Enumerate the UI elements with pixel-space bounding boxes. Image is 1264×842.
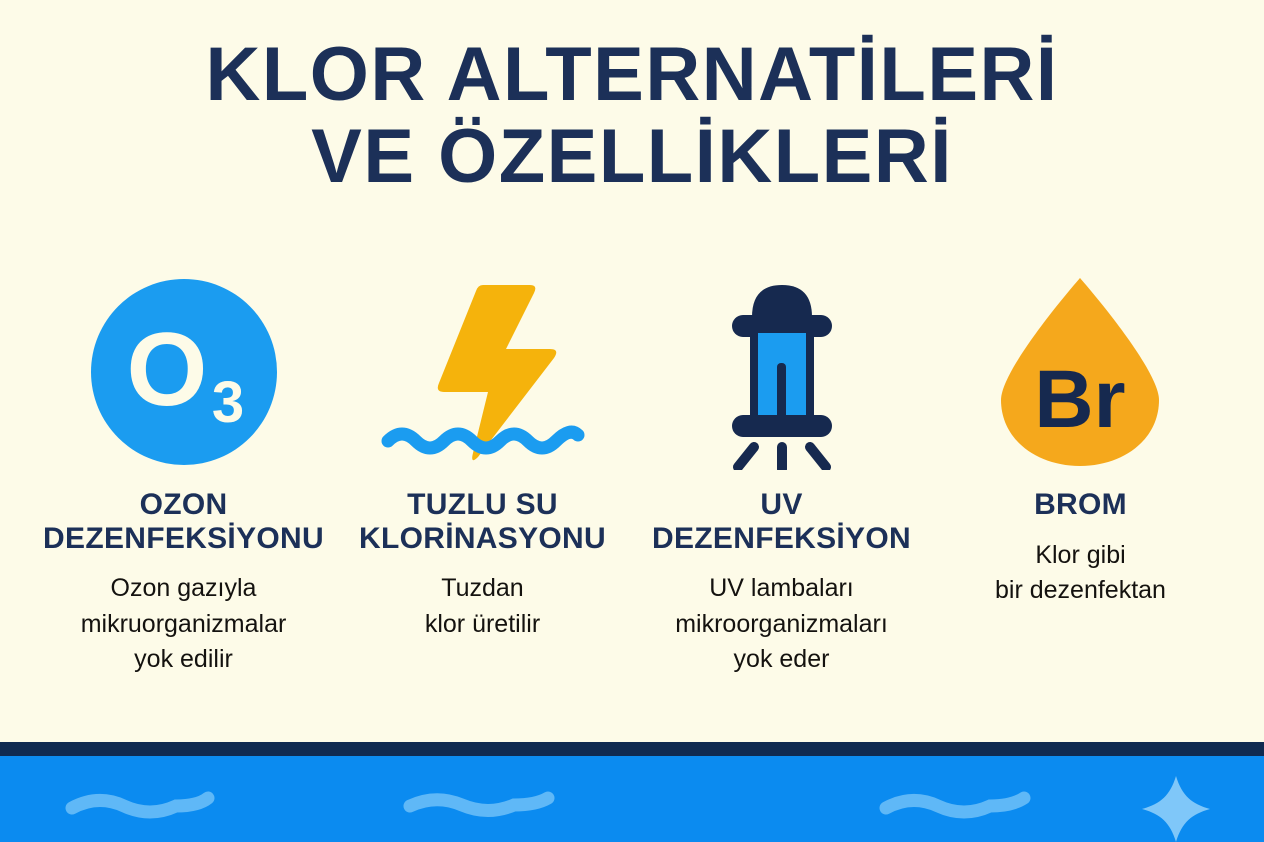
footer-wave-center	[410, 798, 548, 811]
method-body-salt-water: Tuzdan klor üretilir	[421, 571, 544, 642]
method-card-ozone: O 3 OZON DEZENFEKSİYONU Ozon gazıyla mik…	[34, 272, 333, 678]
salt-water-lightning-icon	[333, 272, 632, 472]
method-body-salt-water-line1: Tuzdan	[425, 571, 540, 607]
bromine-br-label: Br	[1034, 354, 1125, 445]
method-body-ozone-line2: mikruorganizmalar	[81, 607, 287, 643]
sparkle-icon	[1142, 776, 1210, 842]
method-heading-uv-line1: UV	[652, 488, 911, 522]
method-card-salt-water: TUZLU SU KLORİNASYONU Tuzdan klor üretil…	[333, 272, 632, 642]
method-body-ozone-line1: Ozon gazıyla	[81, 571, 287, 607]
methods-row: O 3 OZON DEZENFEKSİYONU Ozon gazıyla mik…	[34, 272, 1230, 678]
method-body-ozone-line3: yok edilir	[81, 642, 287, 678]
footer-navy-stripe	[0, 742, 1264, 756]
method-card-uv: UV DEZENFEKSİYON UV lambaları mikroorgan…	[632, 272, 931, 678]
footer-water-band	[0, 756, 1264, 842]
method-heading-ozone-line2: DEZENFEKSİYONU	[43, 522, 324, 556]
method-heading-salt-water-line2: KLORİNASYONU	[359, 522, 606, 556]
method-body-uv-line1: UV lambaları	[675, 571, 888, 607]
ozone-3-subscript: 3	[211, 370, 243, 435]
method-body-bromine-line2: bir dezenfektan	[995, 573, 1166, 609]
uv-ray-right	[810, 447, 826, 467]
method-body-uv: UV lambaları mikroorganizmaları yok eder	[671, 571, 892, 678]
method-body-uv-line2: mikroorganizmaları	[675, 607, 888, 643]
method-heading-salt-water-line1: TUZLU SU	[359, 488, 606, 522]
method-heading-ozone-line1: OZON	[43, 488, 324, 522]
method-heading-salt-water: TUZLU SU KLORİNASYONU	[357, 488, 608, 555]
method-body-bromine-line1: Klor gibi	[995, 538, 1166, 574]
method-heading-uv: UV DEZENFEKSİYON	[650, 488, 913, 555]
footer-wave-left	[72, 798, 208, 812]
uv-lamp-bottom-bar	[732, 415, 832, 437]
footer-wave-right	[886, 798, 1024, 812]
infographic-poster: KLOR ALTERNATİLERİ VE ÖZELLİKLERİ O 3 OZ…	[0, 0, 1264, 842]
method-body-uv-line3: yok eder	[675, 642, 888, 678]
title-line-1: KLOR ALTERNATİLERİ	[0, 38, 1264, 112]
ozone-o-letter: O	[126, 312, 207, 428]
method-heading-bromine-line1: BROM	[1034, 488, 1127, 522]
title-line-2: VE ÖZELLİKLERİ	[0, 120, 1264, 194]
uv-lamp-icon	[632, 272, 931, 472]
method-card-bromine: Br BROM Klor gibi bir dezenfektan	[931, 272, 1230, 609]
uv-ray-left	[738, 447, 754, 467]
method-body-salt-water-line2: klor üretilir	[425, 607, 540, 643]
bromine-droplet-icon: Br	[931, 272, 1230, 472]
uv-lamp-filament	[777, 363, 786, 421]
ozone-o3-circle-icon: O 3	[34, 272, 333, 472]
page-title: KLOR ALTERNATİLERİ VE ÖZELLİKLERİ	[0, 38, 1264, 195]
method-heading-ozone: OZON DEZENFEKSİYONU	[41, 488, 326, 555]
method-body-bromine: Klor gibi bir dezenfektan	[991, 538, 1170, 609]
method-heading-uv-line2: DEZENFEKSİYON	[652, 522, 911, 556]
method-body-ozone: Ozon gazıyla mikruorganizmalar yok edili…	[77, 571, 291, 678]
method-heading-bromine: BROM	[1032, 488, 1129, 522]
